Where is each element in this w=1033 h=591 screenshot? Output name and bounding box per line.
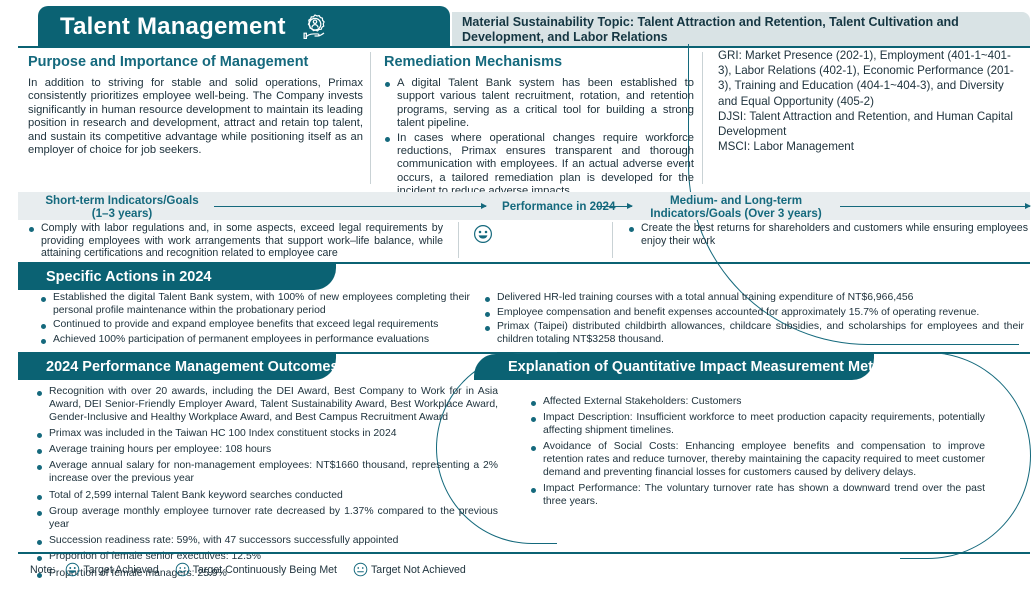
list-item: Achieved 100% participation of permanent… <box>40 334 470 347</box>
list-item: Comply with labor regulations and, in so… <box>28 222 443 260</box>
list-item: Primax was included in the Taiwan HC 100… <box>36 428 498 441</box>
remediation-list: A digital Talent Bank system has been es… <box>384 77 694 199</box>
target-not-achieved-neutral-icon <box>353 562 368 577</box>
framework-djsi: DJSI: Talent Attraction and Retention, a… <box>718 109 1018 139</box>
list-item: Primax (Taipei) distributed childbirth a… <box>484 321 1024 346</box>
arrow-long-term-trailing <box>840 206 1030 207</box>
list-item: Impact Performance: The voluntary turnov… <box>530 483 985 509</box>
specific-actions-left: Established the digital Talent Bank syst… <box>40 292 470 348</box>
report-page: Talent Management Material Sustainabili <box>0 0 1033 591</box>
long-term-goals-cell: Create the best returns for shareholders… <box>628 222 1028 248</box>
performance-status-cell <box>473 222 593 244</box>
list-item: Delivered HR-led training courses with a… <box>484 292 1024 305</box>
specific-actions-header: Specific Actions in 2024 <box>18 264 336 290</box>
short-term-label: Short-term Indicators/Goals (1–3 years) <box>32 194 212 220</box>
list-item: Average annual salary for non-management… <box>36 460 498 486</box>
target-achieved-smiley-icon <box>473 224 593 244</box>
note-label: Note: <box>30 564 55 576</box>
specific-actions-heading: Specific Actions in 2024 <box>46 269 211 285</box>
gear-person-hand-icon <box>300 12 330 42</box>
list-item: Impact Description: Insufficient workfor… <box>530 412 985 438</box>
indicators-header-strip: Short-term Indicators/Goals (1–3 years) … <box>18 192 1030 220</box>
list-item: Create the best returns for shareholders… <box>628 222 1028 247</box>
framework-msci: MSCI: Labor Management <box>718 139 1018 154</box>
frameworks-column: GRI: Market Presence (202-1), Employment… <box>718 48 1018 154</box>
explanation-header: Explanation of Quantitative Impact Measu… <box>474 354 874 380</box>
list-item: Average training hours per employee: 108… <box>36 444 498 457</box>
page-title: Talent Management <box>60 13 286 41</box>
legend-item-continuous: Target Continuously Being Met <box>175 562 337 577</box>
title-row: Talent Management Material Sustainabili <box>0 6 1033 48</box>
legend-item-not-achieved: Target Not Achieved <box>353 562 466 577</box>
list-item: Affected External Stakeholders: Customer… <box>530 396 985 409</box>
remediation-column: Remediation Mechanisms A digital Talent … <box>384 48 694 200</box>
long-term-goal-list: Create the best returns for shareholders… <box>628 222 1028 247</box>
explanation-body: Affected External Stakeholders: Customer… <box>530 396 985 512</box>
list-item: Group average monthly employee turnover … <box>36 506 498 532</box>
column-divider-2 <box>702 52 703 184</box>
list-item: In cases where operational changes requi… <box>384 132 694 199</box>
specific-actions-body: Established the digital Talent Bank syst… <box>18 292 1030 348</box>
list-item: Avoidance of Social Costs: Enhancing emp… <box>530 441 985 479</box>
arrow-short-to-performance <box>214 206 486 207</box>
short-term-label-line2: (1–3 years) <box>92 207 153 220</box>
list-item: Total of 2,599 internal Talent Bank keyw… <box>36 490 498 503</box>
divider-bottom <box>18 552 1030 554</box>
target-achieved-smiley-icon <box>65 562 80 577</box>
short-term-label-line1: Short-term Indicators/Goals <box>45 194 198 207</box>
explanation-heading: Explanation of Quantitative Impact Measu… <box>508 359 908 375</box>
outcomes-heading: 2024 Performance Management Outcomes <box>46 359 339 375</box>
arrow-performance-to-long <box>596 206 632 207</box>
short-term-goal-list: Comply with labor regulations and, in so… <box>28 222 443 260</box>
list-item: A digital Talent Bank system has been es… <box>384 77 694 131</box>
list-item: Established the digital Talent Bank syst… <box>40 292 470 317</box>
overview-columns: Purpose and Importance of Management In … <box>18 48 1030 188</box>
remediation-heading: Remediation Mechanisms <box>384 54 694 70</box>
legend-item-achieved: Target Achieved <box>65 562 158 577</box>
material-topic-box: Material Sustainability Topic: Talent At… <box>452 12 1030 48</box>
legend-label-not-achieved: Target Not Achieved <box>371 564 466 576</box>
explanation-list: Affected External Stakeholders: Customer… <box>530 396 985 509</box>
long-term-label: Medium- and Long-term Indicators/Goals (… <box>636 194 836 220</box>
specific-actions-left-list: Established the digital Talent Bank syst… <box>40 292 470 346</box>
short-term-goals-cell: Comply with labor regulations and, in so… <box>28 222 443 261</box>
list-item: Employee compensation and benefit expens… <box>484 307 1024 320</box>
legend-label-continuous: Target Continuously Being Met <box>193 564 337 576</box>
specific-actions-right: Delivered HR-led training courses with a… <box>484 292 1024 348</box>
legend-label-achieved: Target Achieved <box>83 564 158 576</box>
list-item: Continued to provide and expand employee… <box>40 319 470 332</box>
indicator-divider-1 <box>458 222 459 258</box>
list-item: Succession readiness rate: 59%, with 47 … <box>36 535 498 548</box>
target-continuous-smiley-icon <box>175 562 190 577</box>
outcomes-body: Recognition with over 20 awards, includi… <box>36 386 498 584</box>
purpose-heading: Purpose and Importance of Management <box>28 54 363 70</box>
legend-note: Note: Target Achieved <box>30 562 482 577</box>
outcomes-header: 2024 Performance Management Outcomes <box>18 354 336 380</box>
indicator-divider-2 <box>612 222 613 258</box>
column-divider-1 <box>370 52 371 184</box>
specific-actions-right-list: Delivered HR-led training courses with a… <box>484 292 1024 346</box>
long-term-label-line2: Indicators/Goals (Over 3 years) <box>650 207 821 220</box>
page-title-banner: Talent Management <box>38 6 450 48</box>
purpose-text: In addition to striving for stable and s… <box>28 77 363 157</box>
material-topic-text: Material Sustainability Topic: Talent At… <box>462 15 1030 45</box>
purpose-column: Purpose and Importance of Management In … <box>28 48 363 157</box>
long-term-label-line1: Medium- and Long-term <box>670 194 802 207</box>
indicators-body: Comply with labor regulations and, in so… <box>18 222 1030 260</box>
framework-gri: GRI: Market Presence (202-1), Employment… <box>718 48 1018 109</box>
list-item: Recognition with over 20 awards, includi… <box>36 386 498 424</box>
